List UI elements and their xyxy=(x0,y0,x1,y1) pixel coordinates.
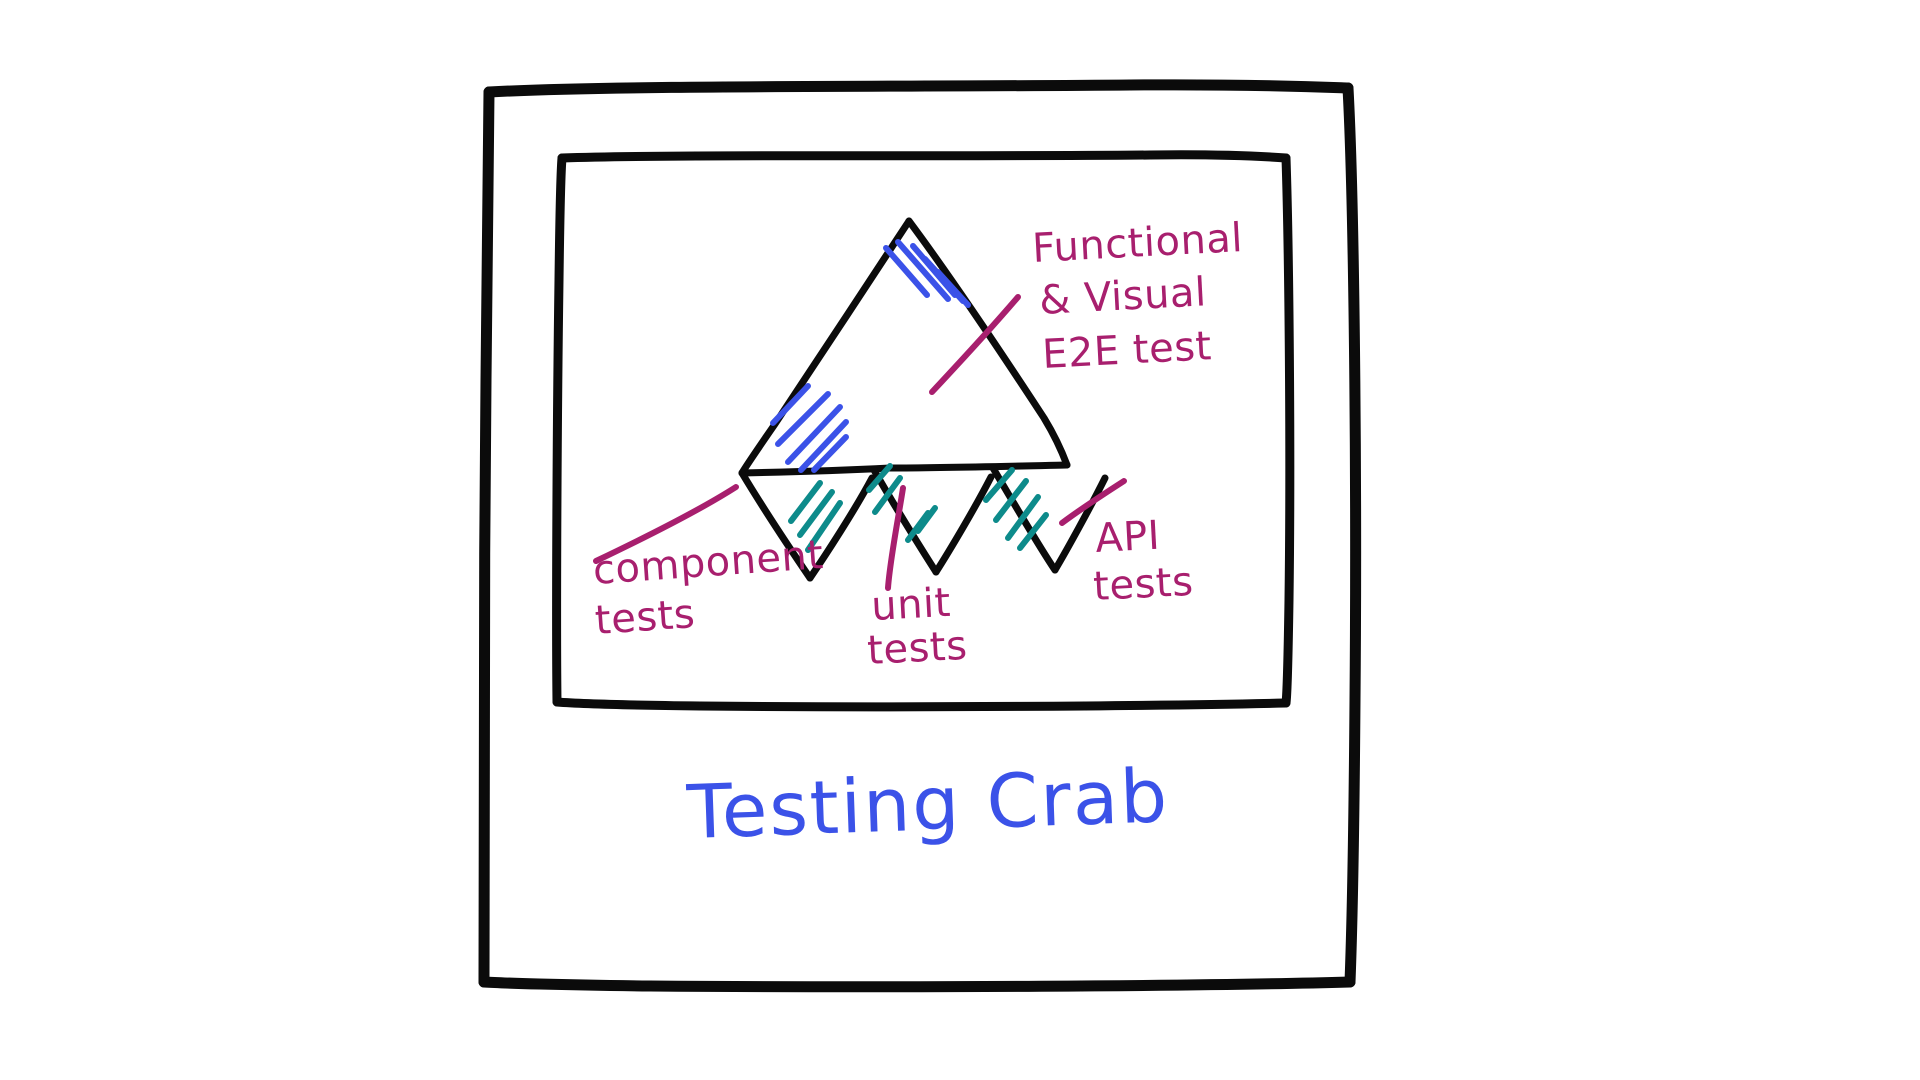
sketch-title: Testing Crab xyxy=(685,753,1171,856)
annotation-e2e-line-3: E2E test xyxy=(1041,323,1213,378)
annotation-api-line-2: tests xyxy=(1092,559,1194,610)
body-hatch-lower xyxy=(773,386,846,470)
annotation-e2e-line-2: & Visual xyxy=(1038,269,1208,324)
leg-center xyxy=(869,466,991,572)
leg-right xyxy=(986,468,1105,570)
sketch-canvas: Functional & Visual E2E test component t… xyxy=(0,0,1920,1080)
annotation-component-line-1: component xyxy=(591,532,824,594)
annotation-unit-line-1: unit xyxy=(870,580,952,630)
sketch-surface: Functional & Visual E2E test component t… xyxy=(0,0,1920,1080)
annotation-e2e-line-1: Functional xyxy=(1031,215,1244,272)
annotation-api-line-1: API xyxy=(1094,513,1161,562)
annotation-component-tests: component tests xyxy=(591,532,824,644)
annotation-unit-tests: unit tests xyxy=(866,580,968,674)
annotation-api-tests: API tests xyxy=(1092,513,1194,610)
annotation-unit-line-2: tests xyxy=(866,623,968,674)
annotation-component-line-2: tests xyxy=(593,591,696,644)
annotation-functional-visual-e2e: Functional & Visual E2E test xyxy=(1031,215,1244,378)
